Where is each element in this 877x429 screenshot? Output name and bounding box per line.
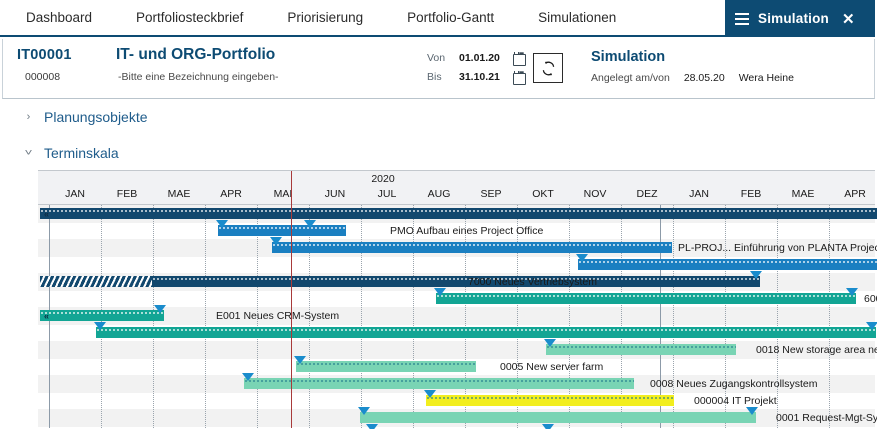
gantt-grid-area[interactable]: «S+W 20XX Systempflege und WartungPMO Au… (38, 205, 877, 428)
simulation-info-block: Simulation Angelegt am/von 28.05.20 Wera… (591, 49, 794, 84)
section-terminskala-label: Terminskala (44, 145, 119, 161)
gantt-month-label: SEP (465, 188, 517, 200)
gantt-start-marker[interactable] (544, 339, 556, 347)
gantt-end-marker[interactable] (542, 424, 554, 429)
refresh-button[interactable] (533, 53, 563, 83)
gantt-chart[interactable]: 2020JANFEBMAEAPRMAIJUNJULAUGSEPOKTNOVDEZ… (38, 170, 877, 429)
date-to-value[interactable]: 31.10.21 (459, 71, 507, 83)
gantt-end-marker[interactable] (154, 305, 166, 313)
gantt-bar-label: 0005 New server farm (500, 362, 603, 373)
gantt-bar-label: 6000 Neues BDE-System (864, 294, 877, 305)
date-from-value[interactable]: 01.01.20 (459, 52, 507, 64)
gantt-start-marker[interactable] (242, 373, 254, 381)
gantt-start-marker[interactable] (94, 322, 106, 330)
gantt-start-marker[interactable] (424, 390, 436, 398)
gantt-end-marker[interactable] (746, 407, 758, 415)
gantt-start-marker[interactable] (294, 356, 306, 364)
gantt-bar-progress-dots (296, 362, 476, 365)
gantt-bar-progress-dots (426, 396, 674, 399)
gantt-bar-label: 0018 New storage area network system (SA… (756, 345, 877, 356)
date-to-label: Bis (427, 71, 453, 83)
gantt-bar-progress-dots (244, 379, 634, 382)
gantt-start-marker[interactable] (576, 254, 588, 262)
gantt-gridline (829, 205, 830, 428)
gantt-month-label: APR (205, 188, 257, 200)
gantt-bar-progress-dots (546, 345, 736, 348)
nav-item-list: Dashboard Portfoliosteckbrief Priorisier… (0, 0, 725, 35)
close-icon[interactable]: ✕ (842, 10, 855, 28)
gantt-today-line-header (291, 171, 292, 206)
gantt-bar[interactable] (436, 293, 856, 304)
portfolio-id: IT00001 (17, 47, 72, 63)
refresh-arrows-icon (540, 60, 557, 77)
gantt-bar-progress-dots (272, 243, 672, 246)
date-from-row: Von 01.01.20 (427, 48, 524, 67)
gantt-start-marker[interactable] (434, 288, 446, 296)
section-planungsobjekte[interactable]: › Planungsobjekte (24, 109, 148, 125)
gantt-month-label: MAE (777, 188, 829, 200)
gantt-scroll-left-icon[interactable]: « (44, 311, 48, 322)
gantt-month-label: JAN (49, 188, 101, 200)
gantt-month-label: JAN (673, 188, 725, 200)
created-date: 28.05.20 (684, 72, 725, 84)
gantt-bar-label: 7000 Neues Vertriebsystem (468, 277, 597, 288)
gantt-bar-progress-dots (96, 328, 876, 331)
gantt-bar[interactable] (218, 225, 346, 236)
gantt-bar[interactable] (40, 310, 164, 321)
gantt-month-label: AUG (413, 188, 465, 200)
gantt-bar[interactable] (96, 327, 876, 338)
simulation-meta: Angelegt am/von 28.05.20 Wera Heine (591, 72, 794, 84)
date-from-label: Von (427, 52, 453, 64)
gantt-bar-progress-dots (218, 226, 346, 229)
gantt-month-label: APR (829, 188, 877, 200)
gantt-bar-label: PL-PROJ... Einführung von PLANTA Project (678, 243, 877, 254)
page-title: IT- und ORG-Portfolio (116, 46, 275, 64)
gantt-bar-label: 0008 Neues Zugangskontrollsystem (650, 379, 818, 390)
gantt-end-marker[interactable] (750, 271, 762, 279)
gantt-gridline (777, 205, 778, 428)
gantt-gridline (205, 205, 206, 428)
gantt-month-label: MAI (257, 188, 309, 200)
nav-portfoliosteckbrief[interactable]: Portfoliosteckbrief (114, 0, 265, 35)
top-navigation-bar: Dashboard Portfoliosteckbrief Priorisier… (0, 0, 877, 37)
gantt-bar-label: 000004 IT Projekt (694, 396, 777, 407)
nav-simulationen[interactable]: Simulationen (516, 0, 638, 35)
gantt-month-label: FEB (725, 188, 777, 200)
date-to-row: Bis 31.10.21 (427, 67, 524, 86)
gantt-start-marker[interactable] (270, 237, 282, 245)
active-tab-label: Simulation (758, 11, 829, 26)
gantt-bar-progress-dots (40, 311, 164, 314)
created-user: Wera Heine (739, 72, 794, 84)
gantt-bar[interactable] (546, 344, 736, 355)
gantt-bar[interactable] (272, 242, 672, 253)
gantt-end-marker[interactable] (846, 288, 858, 296)
gantt-bar-progress-dots (40, 209, 877, 212)
active-tab-simulation[interactable]: Simulation ✕ (725, 0, 877, 37)
gantt-bar[interactable] (578, 259, 877, 270)
gantt-month-label: NOV (569, 188, 621, 200)
gantt-bar[interactable] (40, 208, 877, 219)
portfolio-description-placeholder[interactable]: -Bitte eine Bezeichnung eingeben- (118, 71, 279, 83)
gantt-month-label: JUL (361, 188, 413, 200)
gantt-start-marker[interactable] (366, 424, 378, 429)
calendar-icon[interactable] (513, 52, 524, 64)
chevron-down-icon: ˅ (23, 148, 34, 158)
gantt-month-label: MAE (153, 188, 205, 200)
gantt-bar-progress-dots (578, 260, 877, 263)
section-planungsobjekte-label: Planungsobjekte (44, 109, 148, 125)
section-terminskala[interactable]: ˅ Terminskala (24, 145, 119, 161)
gantt-bar-progress-dots (436, 294, 856, 297)
chevron-right-icon: › (24, 111, 33, 123)
gantt-bar[interactable] (244, 378, 634, 389)
gantt-end-marker[interactable] (866, 322, 877, 330)
gantt-month-label: DEZ (621, 188, 673, 200)
gantt-bar-label: E001 Neues CRM-System (216, 311, 339, 322)
gantt-month-label: OKT (517, 188, 569, 200)
gantt-bar[interactable] (360, 412, 756, 423)
gantt-start-marker[interactable] (216, 220, 228, 228)
gantt-bar-label: PMO Aufbau eines Project Office (390, 226, 543, 237)
gantt-month-label: FEB (101, 188, 153, 200)
date-range-group: Von 01.01.20 Bis 31.10.21 (427, 48, 524, 86)
created-label: Angelegt am/von (591, 72, 670, 84)
application-window: Dashboard Portfoliosteckbrief Priorisier… (0, 0, 877, 429)
gantt-bar-label: 0001 Request-Mgt-System (776, 413, 877, 424)
calendar-icon[interactable] (513, 71, 524, 83)
gantt-scroll-left-icon[interactable]: « (44, 209, 48, 220)
hamburger-menu-icon[interactable] (735, 10, 749, 28)
portfolio-sub-id: 000008 (25, 71, 60, 83)
gantt-bar-hatch (40, 276, 152, 287)
gantt-mid-marker[interactable] (304, 220, 316, 228)
nav-portfolio-gantt[interactable]: Portfolio-Gantt (385, 0, 516, 35)
gantt-gridline (361, 205, 362, 428)
nav-dashboard[interactable]: Dashboard (0, 0, 114, 35)
gantt-timescale-header: 2020JANFEBMAEAPRMAIJUNJULAUGSEPOKTNOVDEZ… (38, 170, 877, 205)
gantt-month-label: JUN (309, 188, 361, 200)
simulation-title: Simulation (591, 49, 794, 65)
gantt-start-marker[interactable] (358, 407, 370, 415)
gantt-bar[interactable] (296, 361, 476, 372)
portfolio-header-panel: IT00001 000008 IT- und ORG-Portfolio -Bi… (2, 39, 875, 99)
gantt-gridline (413, 205, 414, 428)
gantt-row[interactable] (38, 341, 877, 359)
gantt-year-label: 2020 (363, 173, 403, 185)
nav-priorisierung[interactable]: Priorisierung (265, 0, 385, 35)
gantt-bar[interactable] (426, 395, 674, 406)
